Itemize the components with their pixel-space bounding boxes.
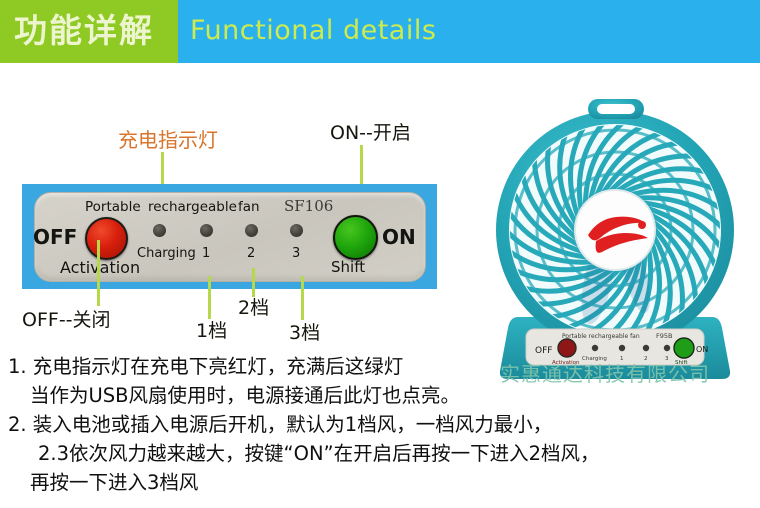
page-root: 功能详解 Functional details 充电指示灯 ON--开启 Por… [0,0,760,508]
page-header: 功能详解 Functional details [0,0,760,63]
mini-led-3 [664,345,670,351]
callout-on-open: ON--开启 [330,118,411,145]
mini-panel-model: F95B [656,332,672,340]
callout-speed-3: 3档 [289,318,320,345]
page-title-cn: 功能详解 [14,7,174,55]
led-label-1: 1 [202,246,210,261]
power-on-shift-button[interactable] [333,215,378,260]
mini-led-charging [592,345,598,351]
panel-label-rechargeable: rechargeable [148,199,237,215]
mini-panel-brand: Portable rechargeable fan [562,333,640,340]
mini-led-2 [643,345,649,351]
callout-speed-2: 2档 [238,293,269,320]
fan-handle-hole [597,104,635,114]
led-charging [153,224,166,237]
panel-off-label: OFF [33,225,77,249]
panel-model-number: SF106 [284,197,333,215]
led-label-2: 2 [247,246,255,261]
panel-on-label: ON [382,225,416,249]
instruction-line-4: 2.3依次风力越来越大，按键“ON”在开启后再按一下进入2档风， [8,439,752,468]
panel-label-portable: Portable [85,199,141,215]
led-label-charging: Charging [137,246,196,261]
callout-charging-light: 充电指示灯 [118,124,218,153]
mini-led-1 [619,345,625,351]
panel-activation-label: Activation [60,258,140,277]
product-photo: OFF ON Portable rechargeable fan F95B Ch… [470,85,760,385]
fan-hub [575,190,655,270]
led-speed-1 [200,224,213,237]
leader-line-speed1 [208,276,211,319]
fan-illustration: OFF ON Portable rechargeable fan F95B Ch… [470,85,760,385]
instructions-block: 1. 充电指示灯在充电下亮红灯，充满后这绿灯 当作为USB风扇使用时，电源接通后… [8,352,752,497]
led-speed-3 [290,224,303,237]
instruction-line-5: 再按一下进入3档风 [8,468,752,497]
leader-line-speed3 [301,276,304,320]
callout-speed-1: 1档 [196,316,227,343]
callout-off-close: OFF--关闭 [22,305,111,332]
page-title-en: Functional details [190,14,436,48]
power-off-button[interactable] [85,217,128,260]
panel-label-fan: fan [238,199,260,215]
panel-shift-label: Shift [331,258,365,276]
instruction-line-3: 2. 装入电池或插入电源后开机，默认为1档风，一档风力最小， [8,410,752,439]
instruction-line-1: 1. 充电指示灯在充电下亮红灯，充满后这绿灯 [8,352,752,381]
led-speed-2 [245,224,258,237]
led-label-3: 3 [292,246,300,261]
instruction-line-2: 当作为USB风扇使用时，电源接通后此灯也点亮。 [8,381,752,410]
leader-line-off [97,240,100,306]
